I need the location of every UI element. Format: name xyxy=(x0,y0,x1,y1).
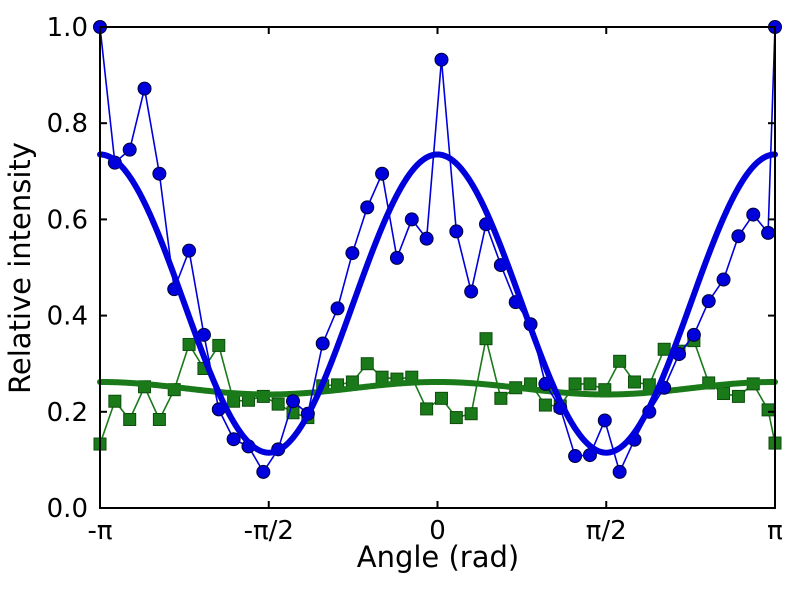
data-point-marker xyxy=(435,392,447,404)
y-tick-label: 1.0 xyxy=(47,13,88,43)
data-point-marker xyxy=(450,412,462,424)
data-point-marker xyxy=(747,208,760,221)
x-tick-label: π xyxy=(767,516,783,546)
y-tick-label: 0.2 xyxy=(47,398,88,428)
data-point-marker xyxy=(390,251,403,264)
x-axis-title: Angle (rad) xyxy=(357,540,519,574)
chart-figure: -π-π/20π/2π0.00.20.40.60.81.0 Angle (rad… xyxy=(0,0,800,600)
data-point-marker xyxy=(124,413,136,425)
data-point-marker xyxy=(732,390,744,402)
data-point-marker xyxy=(183,244,196,257)
data-point-marker xyxy=(584,378,596,390)
data-point-marker xyxy=(598,414,611,427)
data-point-marker xyxy=(717,273,730,286)
y-tick-label: 0.6 xyxy=(47,205,88,235)
data-point-marker xyxy=(257,465,270,478)
plot-background xyxy=(0,0,800,600)
data-point-marker xyxy=(227,433,240,446)
data-point-marker xyxy=(539,399,551,411)
data-point-marker xyxy=(465,285,478,298)
x-tick-label: -π/2 xyxy=(244,516,294,546)
data-point-marker xyxy=(495,392,507,404)
data-point-marker xyxy=(287,395,300,408)
data-point-marker xyxy=(613,465,626,478)
data-point-marker xyxy=(718,388,730,400)
data-point-marker xyxy=(361,201,374,214)
data-point-marker xyxy=(569,378,581,390)
data-point-marker xyxy=(643,379,655,391)
data-point-marker xyxy=(228,395,240,407)
y-tick-label: 0.0 xyxy=(47,494,88,524)
data-point-marker xyxy=(153,413,165,425)
data-point-marker xyxy=(421,403,433,415)
y-axis-title: Relative intensity xyxy=(3,142,37,394)
data-point-marker xyxy=(420,232,433,245)
data-point-marker xyxy=(762,404,774,416)
y-tick-label: 0.8 xyxy=(47,109,88,139)
x-tick-label: -π xyxy=(87,516,112,546)
data-point-marker xyxy=(658,343,670,355)
x-tick-label: π/2 xyxy=(586,516,627,546)
data-point-marker xyxy=(687,328,700,341)
data-point-marker xyxy=(732,230,745,243)
data-point-marker xyxy=(361,358,373,370)
data-point-marker xyxy=(614,355,626,367)
y-tick-label: 0.4 xyxy=(47,302,88,332)
data-point-marker xyxy=(762,226,775,239)
data-point-marker xyxy=(435,53,448,66)
data-point-marker xyxy=(109,395,121,407)
data-point-marker xyxy=(569,450,582,463)
data-point-marker xyxy=(272,398,284,410)
data-point-marker xyxy=(183,338,195,350)
data-point-marker xyxy=(450,225,463,238)
data-point-marker xyxy=(702,295,715,308)
data-point-marker xyxy=(153,167,166,180)
data-point-marker xyxy=(480,333,492,345)
data-point-marker xyxy=(465,408,477,420)
data-point-marker xyxy=(138,82,151,95)
data-point-marker xyxy=(346,247,359,260)
plot-canvas: -π-π/20π/2π0.00.20.40.60.81.0 Angle (rad… xyxy=(0,0,800,600)
data-point-marker xyxy=(628,376,640,388)
data-point-marker xyxy=(213,339,225,351)
data-point-marker xyxy=(123,143,136,156)
data-point-marker xyxy=(316,337,329,350)
data-point-marker xyxy=(331,302,344,315)
data-point-marker xyxy=(405,213,418,226)
data-point-marker xyxy=(376,371,388,383)
data-point-marker xyxy=(376,167,389,180)
